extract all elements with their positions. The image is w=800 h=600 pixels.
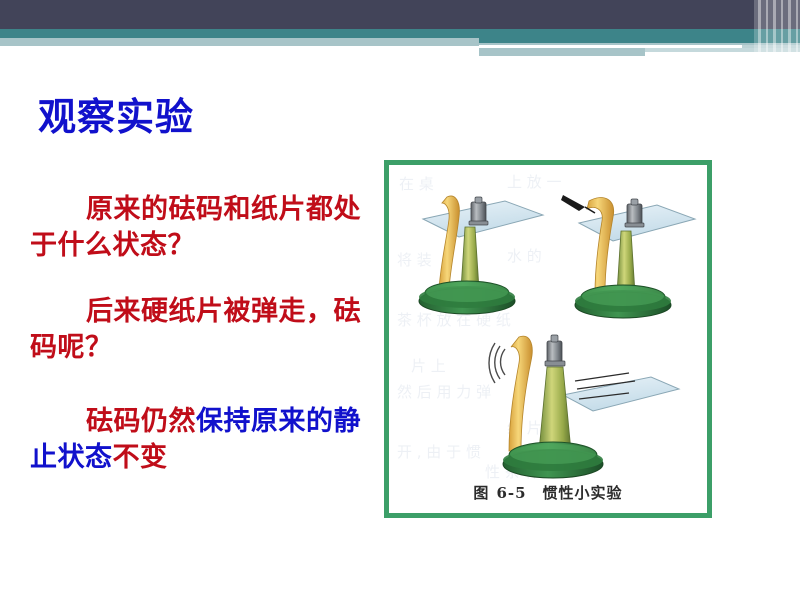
figure-image: 在 桌 上 放 一 将 装 水 的 茶 杯 放 在 硬 纸 片 上 然 后 用 … <box>389 165 707 513</box>
figure-caption: 图6-5惯性小实验 <box>389 482 707 503</box>
figure-caption-prefix: 图 <box>473 484 489 502</box>
weight-1 <box>469 197 488 225</box>
answer-segment-blue: 保持原来的静止状态 <box>30 406 361 473</box>
header-stripe-4 <box>781 0 783 56</box>
svg-text:在 桌: 在 桌 <box>399 175 434 193</box>
svg-text:水 的: 水 的 <box>507 247 542 265</box>
figure-caption-text: 惯性小实验 <box>543 484 623 502</box>
header-teal-band-left <box>0 29 479 38</box>
header-stripe-2 <box>766 0 768 56</box>
panel-strike <box>561 195 695 318</box>
question-paragraph-2: 后来硬纸片被弹走，砝码呢？ <box>30 294 375 365</box>
svg-text:片 上: 片 上 <box>411 357 446 375</box>
weight-2 <box>625 199 644 227</box>
svg-text:将 装: 将 装 <box>397 251 432 269</box>
answer-paragraph-3: 砝码仍然保持原来的静止状态不变 <box>30 404 375 475</box>
header-stripe-1 <box>758 0 761 56</box>
header-dark-band <box>0 0 800 29</box>
header-vertical-stripes <box>754 0 800 56</box>
header-stripe-6 <box>796 0 798 56</box>
header-pale-band-row2 <box>479 48 645 56</box>
header-stripe-3 <box>773 0 776 56</box>
answer-segment-red-2: 不变 <box>113 442 168 473</box>
answer-segment-red-1: 砝码仍然 <box>86 406 196 437</box>
header-pale-band-left <box>0 38 479 46</box>
figure-frame: 在 桌 上 放 一 将 装 水 的 茶 杯 放 在 硬 纸 片 上 然 后 用 … <box>384 160 712 518</box>
inertia-experiment-illustration: 在 桌 上 放 一 将 装 水 的 茶 杯 放 在 硬 纸 片 上 然 后 用 … <box>389 165 707 513</box>
header-teal-band-right <box>479 29 800 43</box>
panel-after <box>489 335 679 478</box>
svg-text:上 放 一: 上 放 一 <box>507 173 562 191</box>
page-title: 观察实验 <box>38 96 194 140</box>
svg-text:然 后 用 力 弹: 然 后 用 力 弹 <box>397 383 491 401</box>
weight-3 <box>545 335 565 366</box>
question-paragraph-1: 原来的砝码和纸片都处于什么状态？ <box>30 192 375 263</box>
header-decoration-banner <box>0 0 800 56</box>
svg-text:开 , 由 于 惯: 开 , 由 于 惯 <box>397 443 481 461</box>
header-stripe-5 <box>788 0 791 56</box>
figure-caption-number: 6-5 <box>496 484 526 502</box>
